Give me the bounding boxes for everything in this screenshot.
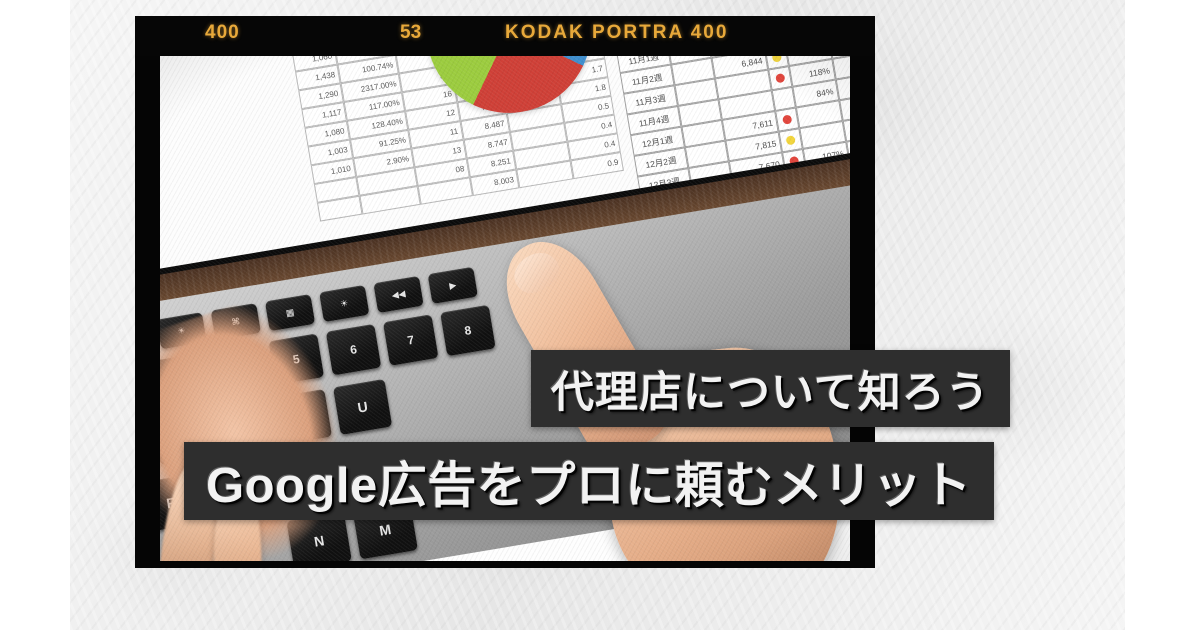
headline-banner-top: 代理店について知ろう — [531, 350, 1010, 427]
fingernail — [507, 245, 565, 299]
headline-banner-main: Google広告をプロに頼むメリット — [184, 442, 994, 520]
headline-text-top: 代理店について知ろう — [551, 358, 990, 420]
key-play[interactable]: ▶ — [428, 267, 478, 304]
key-7[interactable]: 7 — [383, 314, 439, 365]
film-frame-number-center: 53 — [400, 22, 421, 44]
film-stock-label: KODAK PORTRA 400 — [505, 22, 728, 44]
index-finger — [487, 225, 678, 468]
poster-canvas: 400 53 KODAK PORTRA 400 1,871104.02%1838… — [0, 0, 1200, 630]
pie-chart-slices — [421, 56, 596, 118]
film-border-strip: 400 53 KODAK PORTRA 400 — [135, 16, 875, 56]
key-rewind[interactable]: ◀◀ — [373, 276, 423, 313]
pie-chart — [421, 56, 596, 118]
headline-text-main: Google広告をプロに頼むメリット — [206, 446, 972, 517]
film-frame-number-left: 400 — [205, 22, 240, 44]
